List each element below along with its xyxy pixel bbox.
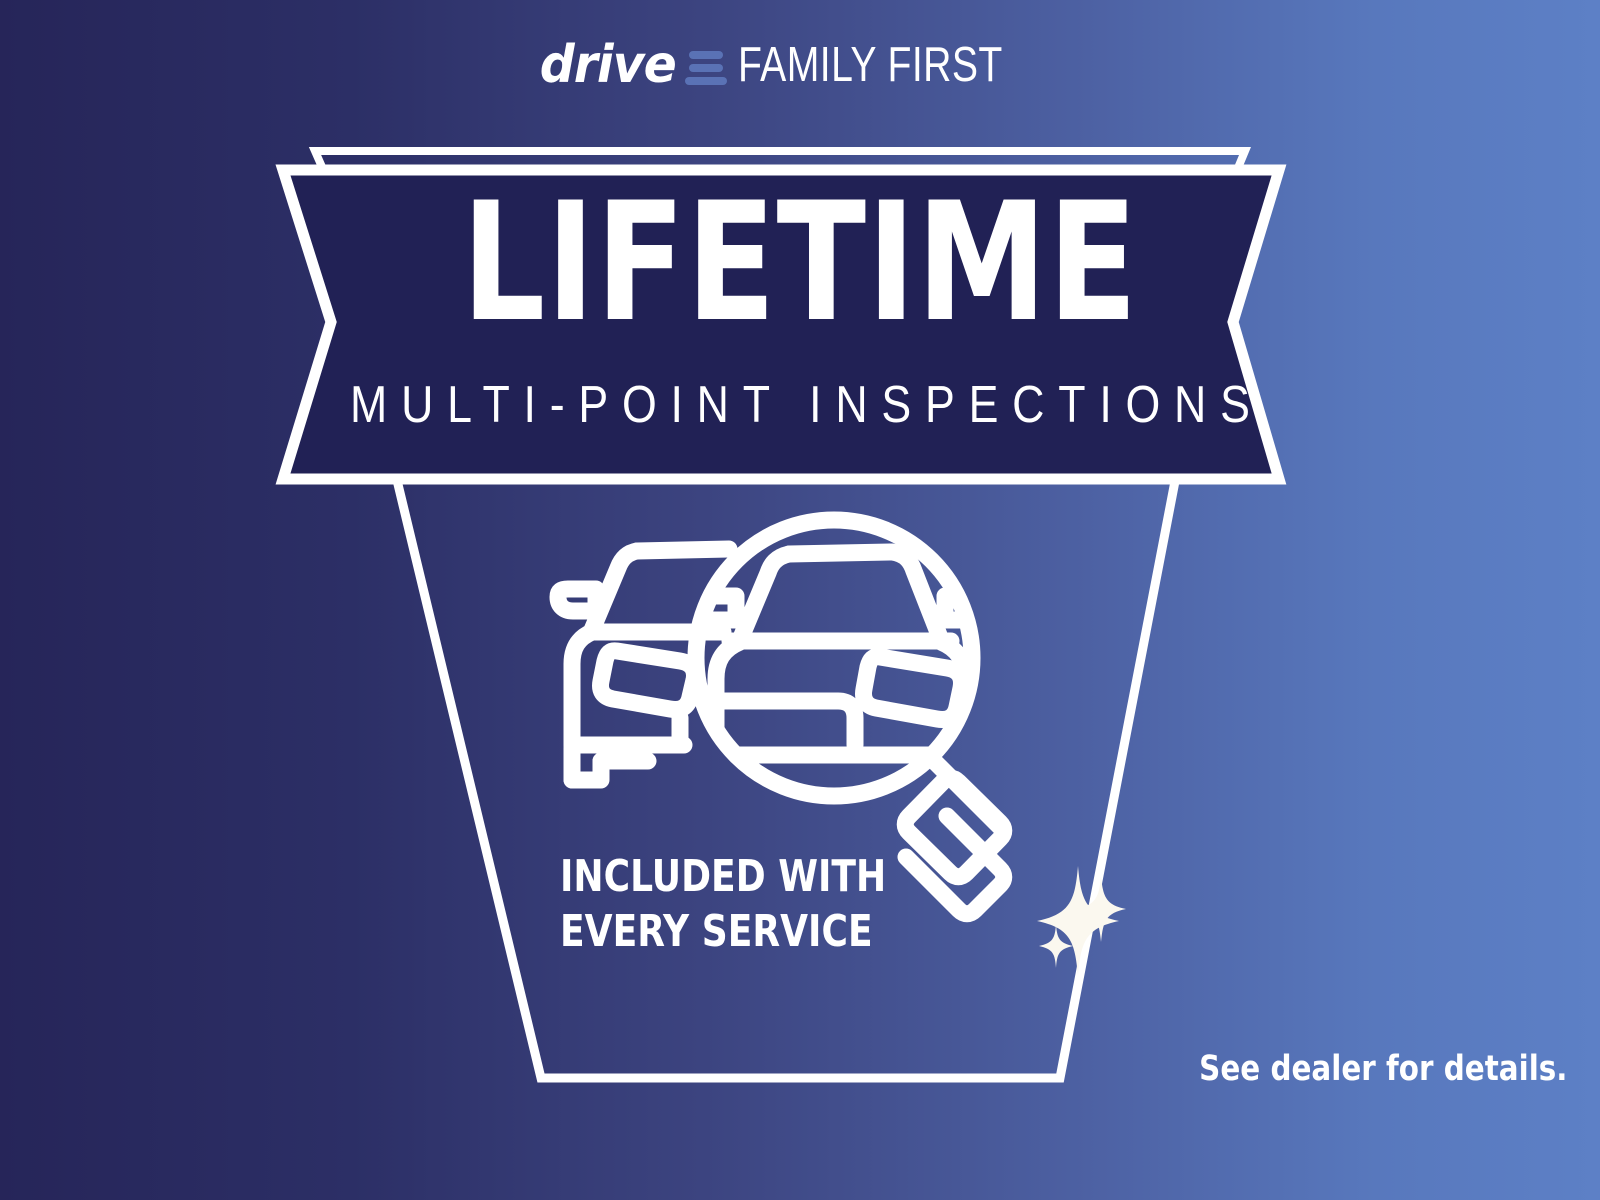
feature-copy: INCLUDED WITH EVERY SERVICE [560, 850, 886, 959]
page-title: LIFETIME [160, 181, 1440, 345]
sparkle-icon-large [1037, 866, 1119, 976]
feature-copy-line-2: EVERY SERVICE [560, 905, 886, 960]
trapezoid-frame [396, 476, 1176, 1078]
magnifier-grip-extension [906, 816, 1004, 914]
promo-graphic: drive FAMILY FIRST [0, 0, 1600, 1200]
disclaimer-text: See dealer for details. [1199, 1052, 1567, 1087]
feature-copy-line-1: INCLUDED WITH [560, 850, 886, 905]
page-subtitle: MULTI-POINT INSPECTIONS [112, 379, 1488, 431]
